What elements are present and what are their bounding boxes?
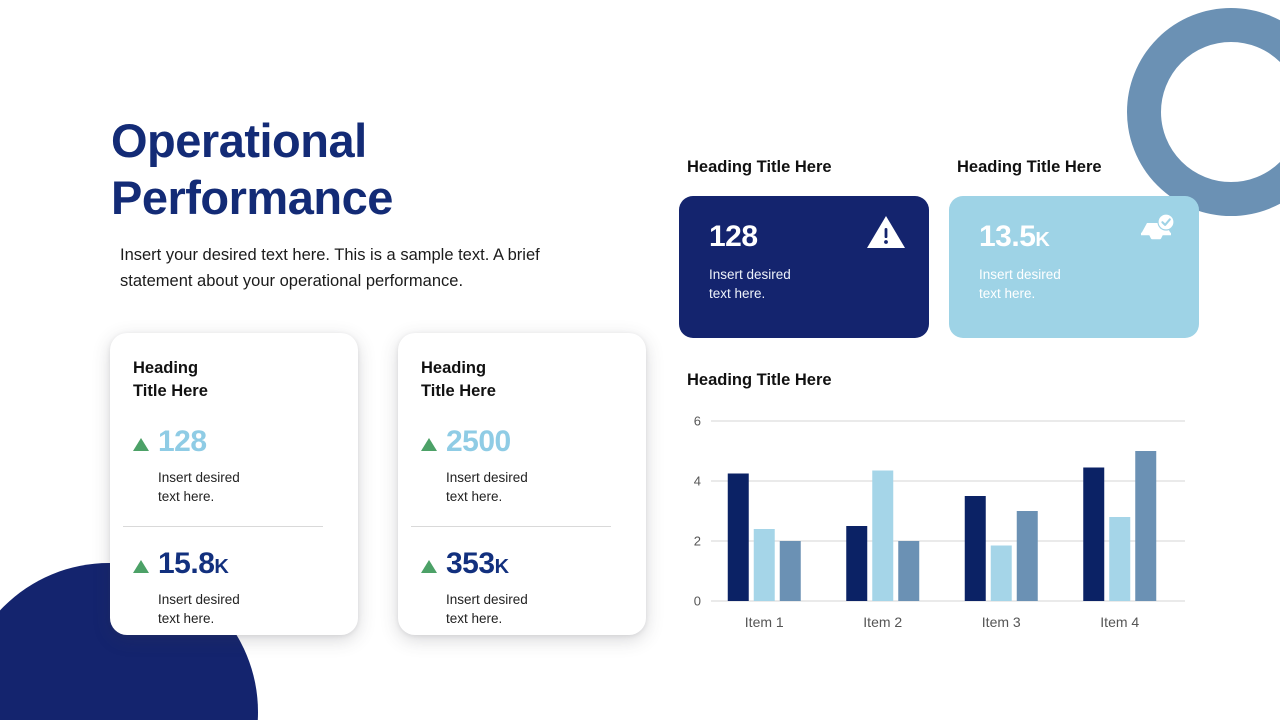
kpi-tile-1[interactable]: 128 Insert desired text here. <box>679 196 929 338</box>
stat-value-row: 353K <box>421 547 624 584</box>
y-axis-tick-label: 6 <box>694 414 701 429</box>
triangle-up-icon <box>421 438 437 451</box>
decorative-ring-shape <box>1127 8 1280 216</box>
chart-bar <box>1083 468 1104 602</box>
kpi-description: Insert desired text here. <box>709 265 929 303</box>
chart-bar <box>1017 511 1038 601</box>
slide: Operational Performance Insert your desi… <box>0 0 1280 720</box>
chart-bar <box>872 471 893 602</box>
stat-block: 15.8K Insert desired text here. <box>133 547 336 628</box>
triangle-up-icon <box>133 560 149 573</box>
stat-description: Insert desired text here. <box>158 468 336 506</box>
inbox-check-icon <box>1135 212 1177 252</box>
bar-chart: 0246Item 1Item 2Item 3Item 4 <box>679 405 1191 645</box>
chart-bar <box>898 541 919 601</box>
stat-divider <box>123 526 323 527</box>
chart-bar <box>754 529 775 601</box>
kpi-heading-2: Heading Title Here <box>957 158 1102 177</box>
stat-divider <box>411 526 611 527</box>
stat-card-title: Heading Title Here <box>133 357 336 403</box>
stat-value-row: 128 <box>133 425 336 462</box>
stat-value-row: 15.8K <box>133 547 336 584</box>
triangle-up-icon <box>133 438 149 451</box>
chart-bar <box>728 474 749 602</box>
kpi-heading-1: Heading Title Here <box>687 158 832 177</box>
stat-description: Insert desired text here. <box>446 468 624 506</box>
y-axis-tick-label: 2 <box>694 534 701 549</box>
stat-description: Insert desired text here. <box>158 590 336 628</box>
stat-card-2[interactable]: Heading Title Here 2500 Insert desired t… <box>398 333 646 635</box>
triangle-up-icon <box>421 560 437 573</box>
stat-description: Insert desired text here. <box>446 590 624 628</box>
chart-bar <box>780 541 801 601</box>
y-axis-tick-label: 4 <box>694 474 701 489</box>
stat-block: 2500 Insert desired text here. <box>421 425 624 506</box>
chart-title: Heading Title Here <box>687 371 832 390</box>
stat-block: 353K Insert desired text here. <box>421 547 624 628</box>
chart-bar <box>991 546 1012 602</box>
x-axis-category-label: Item 3 <box>982 614 1021 630</box>
x-axis-category-label: Item 2 <box>863 614 902 630</box>
stat-value: 2500 <box>446 425 511 462</box>
page-subtitle: Insert your desired text here. This is a… <box>120 242 610 294</box>
page-title: Operational Performance <box>111 112 631 226</box>
kpi-description: Insert desired text here. <box>979 265 1199 303</box>
stat-block: 128 Insert desired text here. <box>133 425 336 506</box>
x-axis-category-label: Item 1 <box>745 614 784 630</box>
stat-value: 15.8K <box>158 547 228 584</box>
chart-bar <box>1135 451 1156 601</box>
chart-bar <box>965 496 986 601</box>
x-axis-category-label: Item 4 <box>1100 614 1139 630</box>
stat-value: 128 <box>158 425 207 462</box>
stat-card-1[interactable]: Heading Title Here 128 Insert desired te… <box>110 333 358 635</box>
warning-triangle-icon <box>865 212 907 252</box>
chart-bar <box>1109 517 1130 601</box>
chart-bar <box>846 526 867 601</box>
kpi-tile-2[interactable]: 13.5K Insert desired text here. <box>949 196 1199 338</box>
stat-card-title: Heading Title Here <box>421 357 624 403</box>
stat-value: 353K <box>446 547 509 584</box>
y-axis-tick-label: 0 <box>694 594 701 609</box>
stat-value-row: 2500 <box>421 425 624 462</box>
